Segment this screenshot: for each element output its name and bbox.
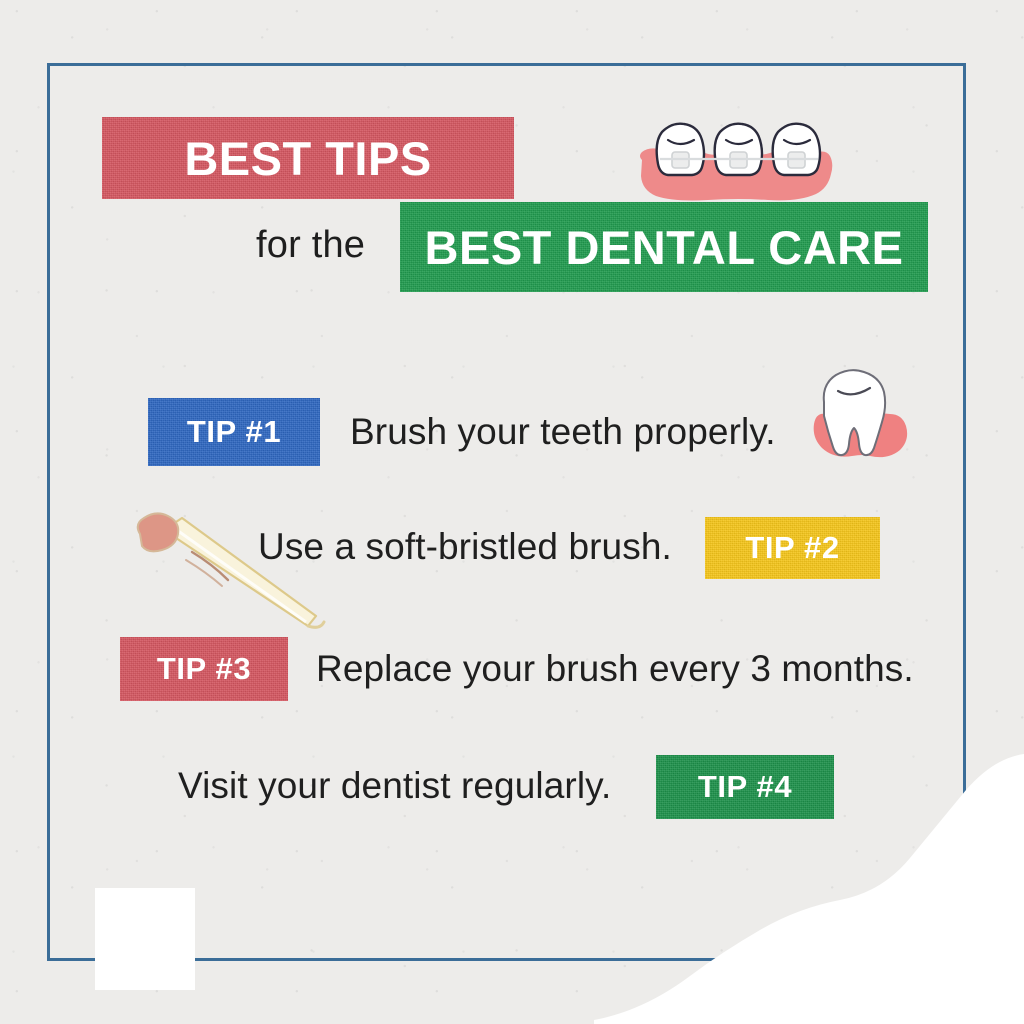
badge-tip-2-label: TIP #2 (745, 530, 839, 566)
tip-3-text: Replace your brush every 3 months. (316, 648, 914, 690)
poster-canvas: BEST TIPS for the BEST DENTAL CARE TIP #… (0, 0, 1024, 1024)
badge-tip-1: TIP #1 (148, 398, 320, 466)
tip-4-text: Visit your dentist regularly. (178, 765, 611, 807)
braces-teeth-icon (628, 112, 842, 212)
header-banner-dental-care: BEST DENTAL CARE (400, 202, 928, 292)
badge-tip-3-label: TIP #3 (157, 651, 251, 687)
header-connector-text: for the (256, 224, 365, 267)
header-banner-best-tips: BEST TIPS (102, 117, 514, 199)
header-title-line1: BEST TIPS (184, 131, 431, 186)
tip-1-text: Brush your teeth properly. (350, 411, 776, 453)
tip-2-text: Use a soft-bristled brush. (258, 526, 672, 568)
decorative-white-square (95, 888, 195, 990)
badge-tip-3: TIP #3 (120, 637, 288, 701)
decorative-white-blob (594, 754, 1024, 1024)
tooth-icon (808, 366, 912, 464)
header-title-line2: BEST DENTAL CARE (425, 220, 904, 275)
badge-tip-1-label: TIP #1 (187, 414, 281, 450)
badge-tip-2: TIP #2 (705, 517, 880, 579)
